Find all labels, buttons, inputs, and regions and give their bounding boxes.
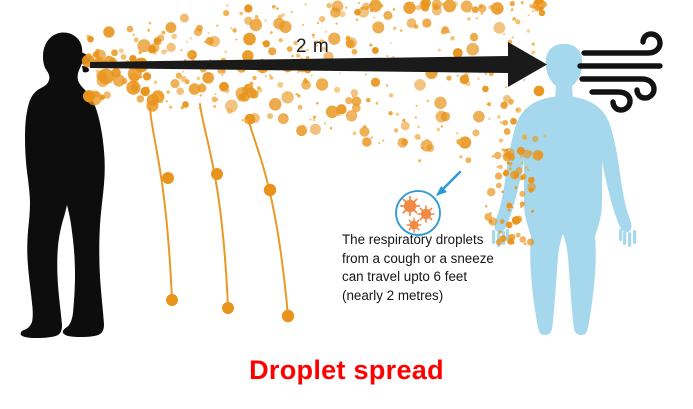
- caption-line-3: can travel upto 6 feet: [342, 268, 527, 287]
- caption-line-1: The respiratory droplets: [342, 231, 527, 250]
- wind-icon: [0, 0, 693, 409]
- droplet-spread-infographic: 2 m The respiratory droplets from a coug…: [0, 0, 693, 409]
- caption-line-2: from a cough or a sneeze: [342, 250, 527, 269]
- caption-text: The respiratory droplets from a cough or…: [342, 231, 527, 305]
- distance-label: 2 m: [296, 36, 329, 58]
- caption-line-4: (nearly 2 metres): [342, 287, 527, 306]
- page-title: Droplet spread: [0, 355, 693, 386]
